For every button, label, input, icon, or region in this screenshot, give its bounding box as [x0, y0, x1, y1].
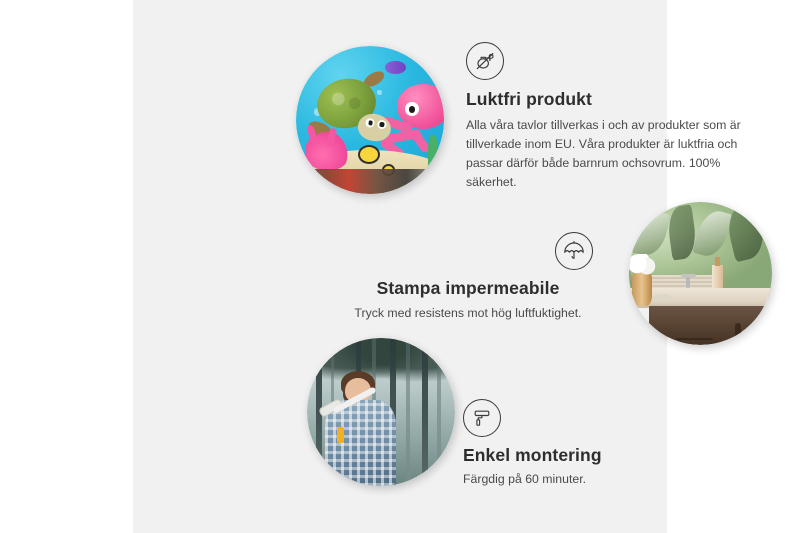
- bubble-icon: [377, 90, 381, 94]
- feature-title: Enkel montering: [463, 445, 713, 466]
- feature-description: Alla våra tavlor tillverkas i och av pro…: [466, 116, 756, 192]
- coral-icon: [305, 132, 349, 170]
- underwater-illustration: [296, 46, 444, 194]
- feature-waterproof: Stampa impermeabile Tryck med resistens …: [343, 232, 593, 323]
- feature-title: Luktfri produkt: [466, 89, 756, 110]
- white-flowers: [629, 254, 658, 277]
- feature-odour-free: Luktfri produkt Alla våra tavlor tillver…: [466, 42, 756, 192]
- feature-description: Tryck med resistens mot hög luftfuktighe…: [343, 304, 593, 323]
- faucet-icon: [686, 274, 690, 288]
- paint-roller-icon: [463, 399, 501, 437]
- bathroom-scene: [629, 202, 772, 345]
- backsplash-tiles: [643, 275, 712, 288]
- drawer-handle: [676, 338, 713, 340]
- content-panel: Luktfri produkt Alla våra tavlor tillver…: [133, 0, 667, 533]
- leaf-icon: [723, 202, 770, 262]
- seaweed-icon: [428, 135, 438, 173]
- door-handle: [735, 323, 741, 343]
- soap-dish: [652, 294, 672, 303]
- tree-trunk: [437, 338, 441, 486]
- feature-easy-mounting: Enkel montering Färgdig på 60 minuter.: [463, 399, 713, 489]
- turtle-eye: [365, 118, 375, 128]
- vanity-cabinet: [649, 306, 772, 345]
- product-photo-forest[interactable]: [307, 338, 455, 486]
- leaf-icon: [630, 209, 670, 260]
- tree-trunk: [406, 338, 410, 486]
- decorative-vase: [632, 272, 652, 306]
- no-fragrance-icon: [466, 42, 504, 80]
- feature-description: Färgdig på 60 minuter.: [463, 470, 713, 489]
- turtle-eye: [377, 119, 387, 129]
- forest-scene: [307, 338, 455, 486]
- purple-fish-icon: [385, 61, 406, 74]
- tool-grip: [337, 427, 344, 443]
- umbrella-icon: [555, 232, 593, 270]
- product-photo-bathroom[interactable]: [629, 202, 772, 345]
- octopus-eye: [405, 102, 419, 116]
- tree-trunk: [422, 338, 427, 486]
- product-photo-underwater[interactable]: [296, 46, 444, 194]
- tree-canopy: [307, 338, 455, 388]
- feature-title: Stampa impermeabile: [343, 278, 593, 299]
- bottom-photo-strip: [296, 169, 444, 194]
- leaf-icon: [692, 207, 732, 260]
- product-feature-page: Luktfri produkt Alla våra tavlor tillver…: [0, 0, 800, 533]
